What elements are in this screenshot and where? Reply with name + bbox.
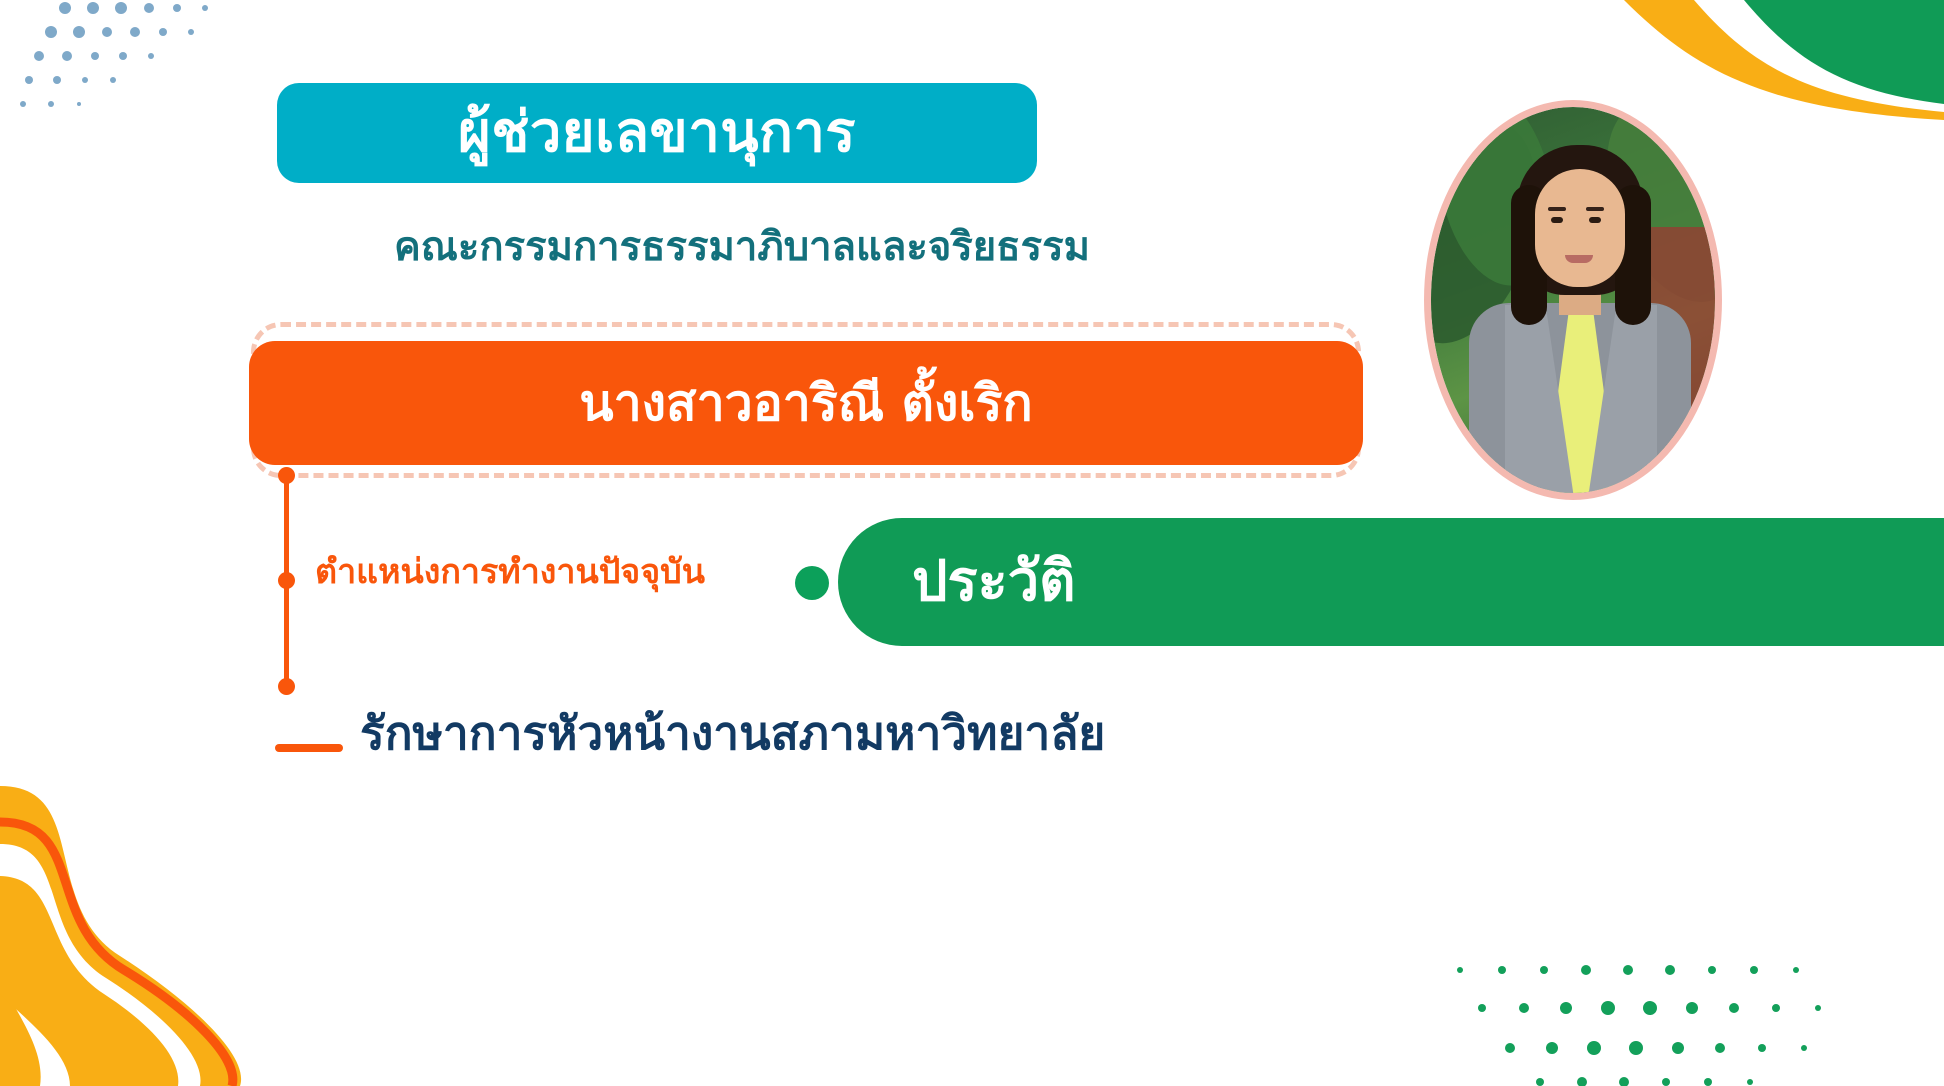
history-banner: ประวัติ xyxy=(838,518,1944,646)
title-chip: ผู้ช่วยเลขานุการ xyxy=(277,83,1037,183)
title-chip-label: ผู้ช่วยเลขานุการ xyxy=(458,105,856,161)
person-name-chip: นางสาวอาริณี ตั้งเริก xyxy=(249,341,1363,465)
person-name-label: นางสาวอาริณี ตั้งเริก xyxy=(579,378,1032,428)
portrait-frame xyxy=(1424,100,1722,500)
connector-node-middle xyxy=(278,572,295,589)
halftone-dots-top-left xyxy=(20,0,250,130)
connector-node-bottom xyxy=(278,678,295,695)
dash-marker-icon xyxy=(275,744,343,752)
portrait-image xyxy=(1431,107,1715,493)
current-position-label: ตำแหน่งการทำงานปัจจุบัน xyxy=(315,555,705,589)
green-bullet-icon xyxy=(795,566,829,600)
decor-bottom-left-blob xyxy=(0,726,400,1086)
halftone-dots-bottom-right xyxy=(1440,960,1920,1086)
role-text: รักษาการหัวหน้างานสภามหาวิทยาลัย xyxy=(360,710,1105,756)
slide-canvas: ผู้ช่วยเลขานุการ คณะกรรมการธรรมาภิบาลและ… xyxy=(0,0,1944,1086)
subtitle-text: คณะกรรมการธรรมาภิบาลและจริยธรรม xyxy=(277,225,1207,269)
connector-node-top xyxy=(278,467,295,484)
history-banner-label: ประวัติ xyxy=(912,554,1076,610)
